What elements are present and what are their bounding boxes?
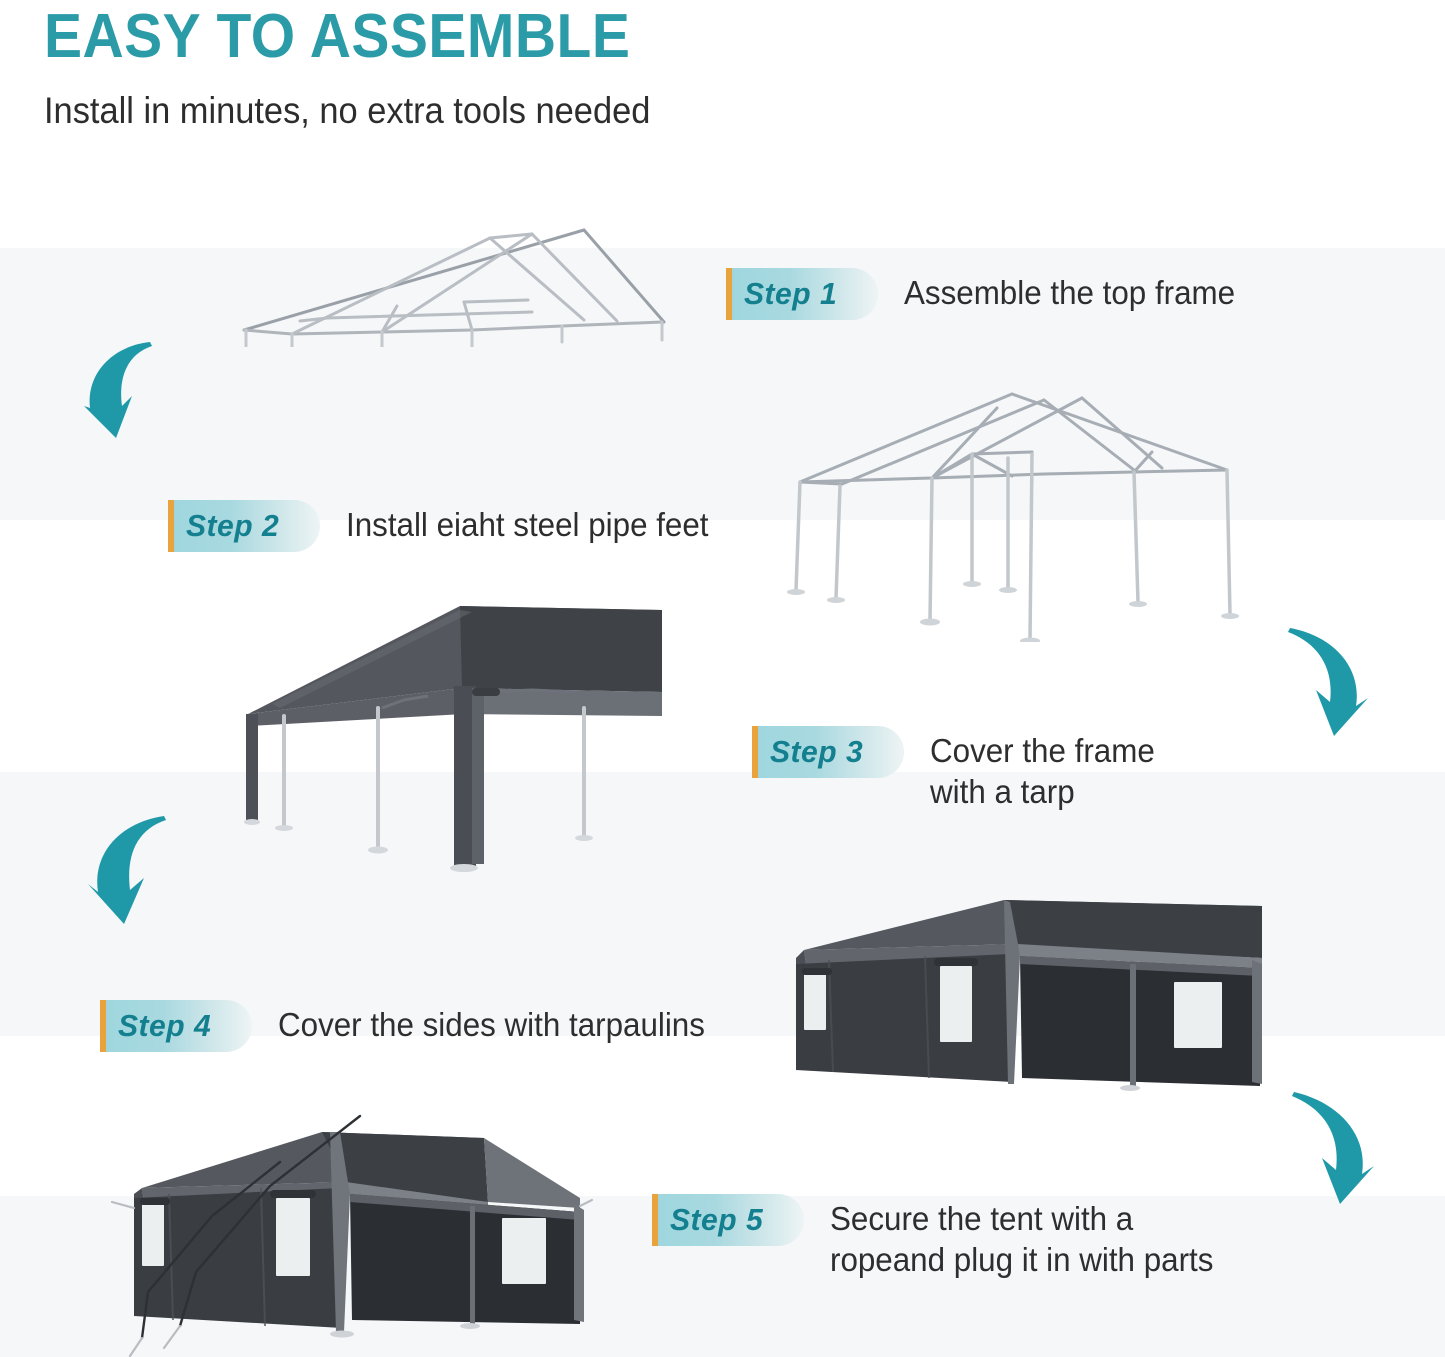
carport-roof-tarp-illustration (232, 596, 662, 886)
step-badge-2: Step 2 (168, 500, 320, 552)
step-description-3: Cover the frame with a tarp (930, 726, 1155, 812)
step-description-4: Cover the sides with tarpaulins (278, 1000, 705, 1045)
step-badge-label-4: Step 4 (118, 1008, 211, 1044)
page-subtitle: Install in minutes, no extra tools neede… (44, 90, 1290, 132)
step-badge-label-2: Step 2 (186, 508, 279, 544)
page-title: EASY TO ASSEMBLE (44, 4, 1277, 70)
full-frame-legs-illustration (782, 392, 1262, 642)
curved-arrow-down-right-1 (72, 332, 172, 447)
carport-enclosed-walls-illustration (782, 872, 1262, 1097)
step-badge-label-3: Step 3 (770, 734, 863, 770)
curved-arrow-down-right-3 (78, 808, 188, 933)
curved-arrow-down-left-2 (1276, 620, 1386, 745)
step-description-2: Install eiaht steel pipe feet (346, 500, 709, 545)
step-row-2: Step 2 Install eiaht steel pipe feet (168, 500, 728, 552)
step-badge-4: Step 4 (100, 1000, 252, 1052)
curved-arrow-down-left-4 (1280, 1086, 1390, 1211)
step-row-3: Step 3 Cover the frame with a tarp (752, 726, 1167, 812)
step-badge-label-1: Step 1 (744, 276, 837, 312)
step-badge-1: Step 1 (726, 268, 878, 320)
step-row-4: Step 4 Cover the sides with tarpaulins (100, 1000, 727, 1052)
step-row-5: Step 5 Secure the tent with a ropeand pl… (652, 1194, 1234, 1280)
step-description-1: Assemble the top frame (904, 268, 1235, 313)
header: EASY TO ASSEMBLE Install in minutes, no … (44, 4, 1384, 132)
step-badge-label-5: Step 5 (670, 1202, 763, 1238)
roof-frame-illustration (232, 222, 672, 347)
instruction-infographic: EASY TO ASSEMBLE Install in minutes, no … (0, 0, 1445, 1357)
step-row-1: Step 1 Assemble the top frame (726, 268, 1253, 320)
carport-guy-ropes-illustration (84, 1076, 594, 1357)
step-description-5: Secure the tent with a ropeand plug it i… (830, 1194, 1213, 1280)
step-badge-3: Step 3 (752, 726, 904, 778)
step-badge-5: Step 5 (652, 1194, 804, 1246)
